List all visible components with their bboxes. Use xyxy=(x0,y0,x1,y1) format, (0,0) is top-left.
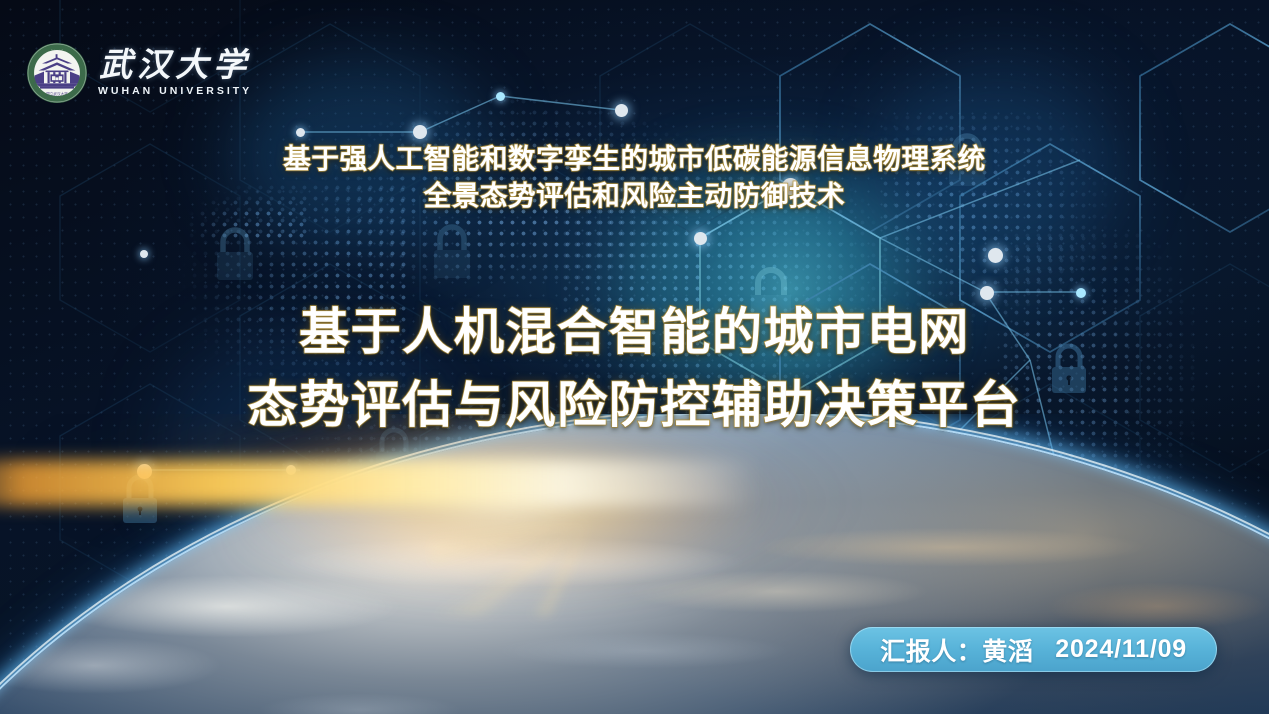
page-title-line-1: 基于人机混合智能的城市电网 xyxy=(0,296,1269,369)
logo-wordmark: 武汉大学 WUHAN UNIVERSITY xyxy=(98,48,252,99)
sunrise-rays xyxy=(430,414,850,616)
wuhan-university-crest-icon: · · · · · xyxy=(26,42,88,104)
network-node xyxy=(413,125,427,139)
project-subtitle: 基于强人工智能和数字孪生的城市低碳能源信息物理系统 全景态势评估和风险主动防御技… xyxy=(0,141,1269,214)
project-subtitle-line-1: 基于强人工智能和数字孪生的城市低碳能源信息物理系统 xyxy=(0,141,1269,178)
padlock-icon xyxy=(208,224,262,286)
network-node xyxy=(140,250,148,258)
project-subtitle-line-2: 全景态势评估和风险主动防御技术 xyxy=(0,178,1269,215)
logo-name-en: WUHAN UNIVERSITY xyxy=(98,85,252,99)
network-node xyxy=(615,104,628,117)
presenter-badge: 汇报人：黄滔 2024/11/09 xyxy=(850,627,1217,672)
presenter-label: 汇报人：黄滔 xyxy=(880,632,1033,668)
padlock-icon xyxy=(424,220,480,284)
sunrise-band xyxy=(0,460,760,506)
presentation-slide: · · · · · xyxy=(0,0,1269,714)
page-title: 基于人机混合智能的城市电网 态势评估与风险防控辅助决策平台 xyxy=(0,296,1269,441)
network-node xyxy=(694,232,707,245)
network-node xyxy=(496,92,505,101)
logo-name-cn: 武汉大学 xyxy=(99,48,251,83)
presentation-date: 2024/11/09 xyxy=(1055,635,1187,664)
network-node xyxy=(988,248,1003,263)
page-title-line-2: 态势评估与风险防控辅助决策平台 xyxy=(0,369,1269,442)
wuhan-university-logo: · · · · · xyxy=(26,42,252,104)
network-node xyxy=(296,128,305,137)
